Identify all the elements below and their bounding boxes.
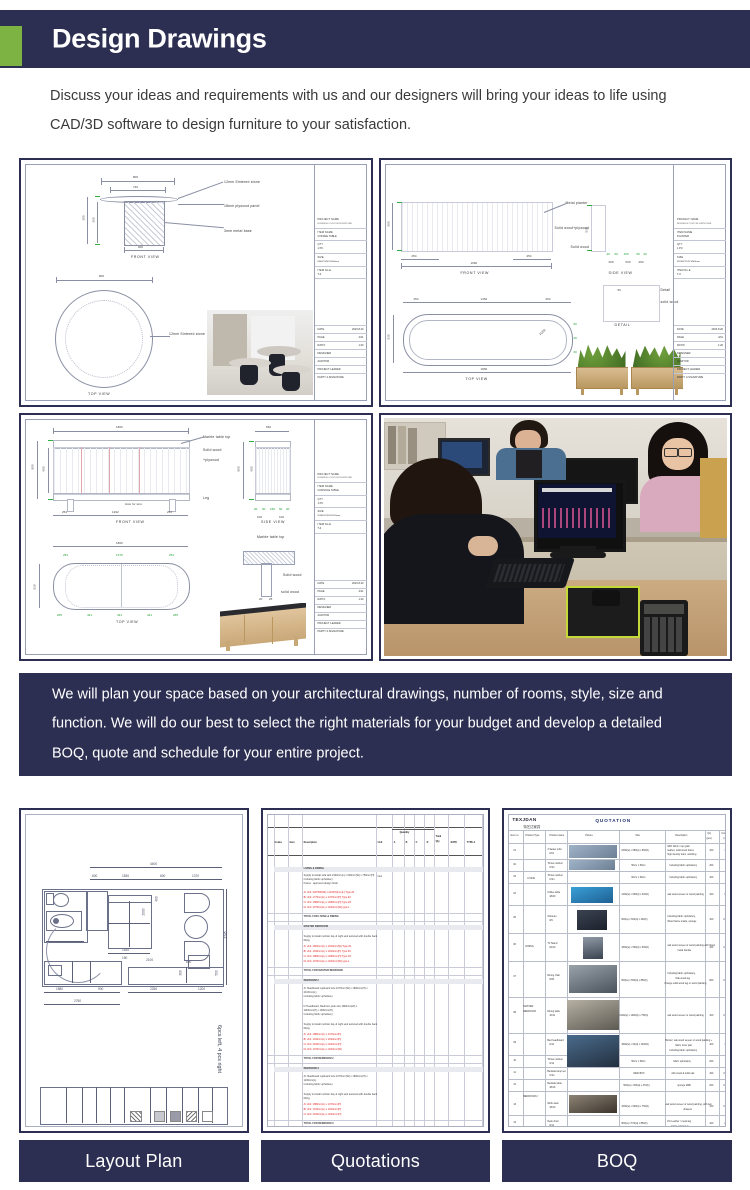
layout-plan-note: 6pcs left, 4 pcs right: [216, 1025, 222, 1073]
boq-doc-title: QUOTATION: [595, 818, 631, 823]
design-drawings-grid: 800 740 300 260 600 FRONT VIEW 12mm Sint…: [19, 158, 732, 661]
page-title: Design Drawings: [52, 24, 267, 55]
intro-paragraph: Discuss your ideas and requirements with…: [50, 82, 710, 140]
label-boq[interactable]: BOQ: [502, 1140, 732, 1182]
boq-logo-sub: 特艺达家具: [523, 824, 540, 829]
drawing-panel-console-table[interactable]: 1800 800 600 254 1292 254 FRONT VIEW Mar…: [19, 413, 373, 662]
title-block: PROJECT NAMEBUSINESS CUSTOM FURNITURE IT…: [314, 164, 367, 401]
drawing-panel-coffee-table[interactable]: 800 740 300 260 600 FRONT VIEW 12mm Sint…: [19, 158, 373, 407]
document-labels-row: Layout Plan Quotations BOQ: [19, 1140, 732, 1182]
planning-banner-text: We will plan your space based on your ar…: [52, 680, 702, 769]
documents-grid: 4400 600 1830 600 1370: [19, 808, 732, 1133]
drawing-panel-planter[interactable]: 500 254 1960 254 FRONT VIEW 530 20 60 15…: [379, 158, 733, 407]
title-block: PROJECT NAMEBUSINESS CUSTOM FURNITURE IT…: [314, 419, 367, 656]
header-accent-bar: [0, 26, 22, 66]
drawing-panel-office-photo[interactable]: [379, 413, 733, 662]
document-layout-plan[interactable]: 4400 600 1830 600 1370: [19, 808, 249, 1133]
document-boq[interactable]: TEXJDAN 特艺达家具 QUOTATION Item no. Product…: [502, 808, 732, 1133]
title-block: PROJECT NAMEBUSINESS CUSTOM FURNITURE IT…: [673, 164, 726, 401]
coffee-table-photo: [207, 310, 313, 395]
label-layout-plan[interactable]: Layout Plan: [19, 1140, 249, 1182]
label-quotations[interactable]: Quotations: [261, 1140, 491, 1182]
console-table-render: [216, 603, 312, 655]
document-quotations[interactable]: Codes Item Description Unit Quantity A B…: [261, 808, 491, 1133]
planning-banner: We will plan your space based on your ar…: [19, 673, 732, 776]
planter-render-1: [576, 342, 628, 395]
boq-logo: TEXJDAN: [512, 817, 536, 822]
page-header: Design Drawings: [0, 10, 750, 68]
